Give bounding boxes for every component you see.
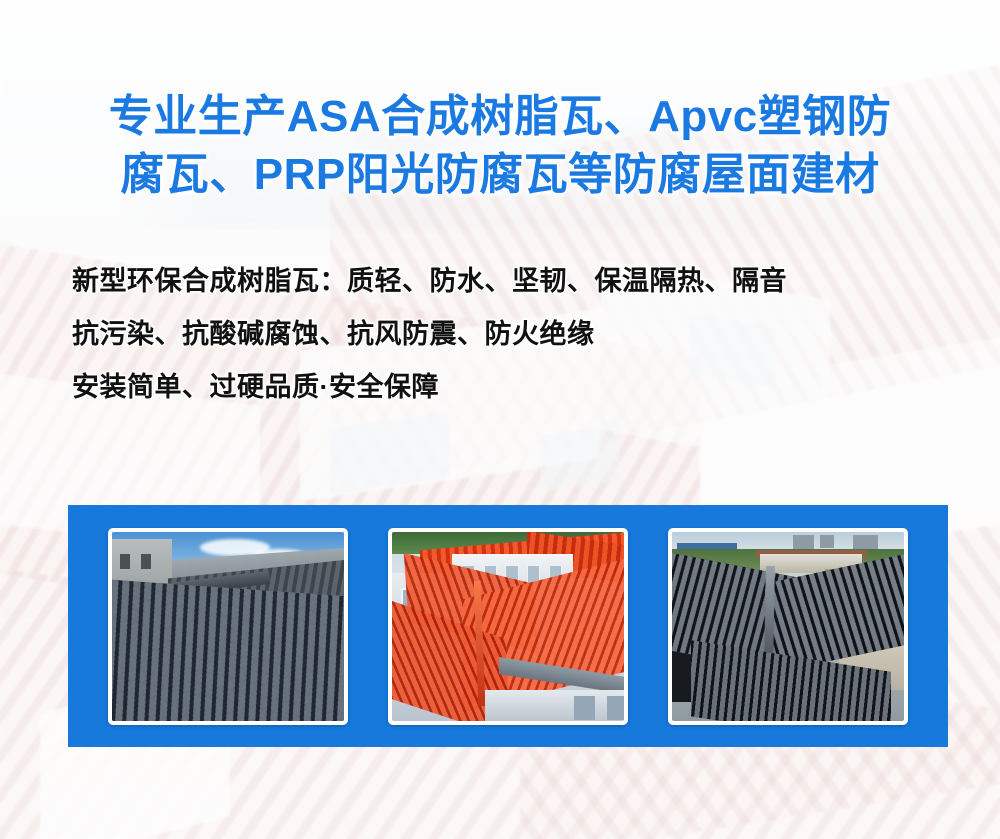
gallery-photo-frame-2[interactable]	[388, 528, 628, 725]
subtitle-block: 新型环保合成树脂瓦：质轻、防水、坚韧、保温隔热、隔音 抗污染、抗酸碱腐蚀、抗风防…	[72, 268, 952, 401]
product-banner: 专业生产ASA合成树脂瓦、Apvc塑钢防 腐瓦、PRP阳光防腐瓦等防腐屋面建材 …	[0, 0, 1000, 839]
red-resin-tile-roof-photo	[392, 532, 624, 721]
photo2-lower-building	[485, 690, 624, 720]
subtitle-line-3: 安装简单、过硬品质·安全保障	[72, 374, 952, 401]
photo2-lower-window-2	[607, 696, 624, 720]
bottom-background-strip	[0, 747, 1000, 839]
gallery-photo-frame-1[interactable]	[108, 528, 348, 725]
photo2-lower-window-1	[574, 696, 595, 720]
headline-line-1: 专业生产ASA合成树脂瓦、Apvc塑钢防	[0, 88, 1000, 146]
gallery-panel	[68, 505, 948, 747]
subtitle-line-1: 新型环保合成树脂瓦：质轻、防水、坚韧、保温隔热、隔音	[72, 268, 952, 295]
black-resin-tile-roof-photo	[672, 532, 904, 721]
photo1-main-tile-surface	[112, 578, 344, 720]
subtitle-line-2: 抗污染、抗酸碱腐蚀、抗风防震、防火绝缘	[72, 321, 952, 348]
headline: 专业生产ASA合成树脂瓦、Apvc塑钢防 腐瓦、PRP阳光防腐瓦等防腐屋面建材	[0, 88, 1000, 204]
gray-resin-tile-roof-photo	[112, 532, 344, 721]
headline-line-2: 腐瓦、PRP阳光防腐瓦等防腐屋面建材	[0, 146, 1000, 204]
photo1-window-1	[120, 554, 130, 569]
gallery-photo-frame-3[interactable]	[668, 528, 908, 725]
photo3-far-building-2	[820, 535, 834, 548]
photo1-window-2	[141, 554, 151, 569]
photo3-hip-ridge	[764, 565, 775, 663]
